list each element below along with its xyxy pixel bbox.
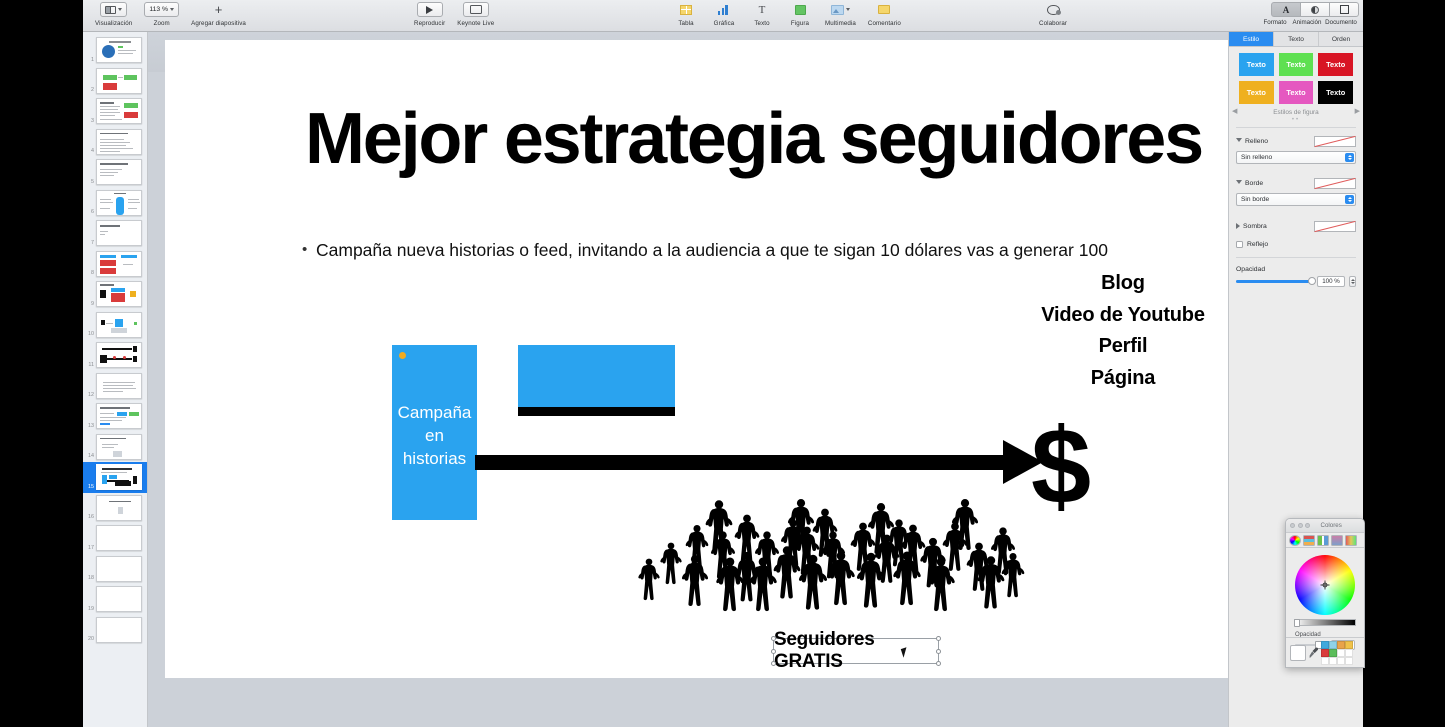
slide-navigator[interactable]: 1 2 3 bbox=[83, 32, 148, 727]
slide-thumbnail-8[interactable]: 8 bbox=[83, 249, 147, 280]
shape-style-green[interactable]: Texto bbox=[1279, 53, 1314, 76]
selected-text-box[interactable]: Seguidores GRATIS bbox=[773, 638, 939, 664]
slide-number: 18 bbox=[83, 575, 96, 581]
slide-thumbnail-6[interactable]: 6 bbox=[83, 188, 147, 219]
colors-window[interactable]: Colores Opacidad 100 % bbox=[1285, 518, 1365, 668]
slide-thumbnail-13[interactable]: 13 bbox=[83, 401, 147, 432]
zoom-label: Zoom bbox=[154, 20, 170, 27]
opacity-slider[interactable] bbox=[1236, 280, 1313, 283]
selected-text-label: Seguidores GRATIS bbox=[774, 629, 938, 673]
insert-chart-button[interactable]: Gráfica bbox=[705, 2, 743, 27]
palette-swatch[interactable] bbox=[1337, 649, 1345, 657]
divider bbox=[1236, 127, 1356, 128]
inspector-tabs: Estilo Texto Orden bbox=[1229, 32, 1363, 47]
minimize-icon[interactable] bbox=[1298, 523, 1303, 528]
slide-number: 9 bbox=[83, 301, 96, 307]
slide-thumbnail-preview bbox=[96, 403, 142, 429]
bullet-marker: • bbox=[302, 241, 307, 258]
comment-icon bbox=[878, 5, 890, 14]
slide-number: 19 bbox=[83, 606, 96, 612]
slide-thumbnail-preview bbox=[96, 434, 142, 460]
colors-window-footer bbox=[1286, 637, 1364, 667]
slide-thumbnail-9[interactable]: 9 bbox=[83, 279, 147, 310]
shape-styles-pagination[interactable]: •• bbox=[1239, 117, 1353, 123]
chart-icon bbox=[718, 5, 730, 15]
slide-thumbnail-preview bbox=[96, 129, 142, 155]
resize-handle-tl[interactable] bbox=[771, 636, 776, 641]
slide-thumbnail-preview bbox=[96, 342, 142, 368]
reflection-checkbox[interactable] bbox=[1236, 241, 1243, 248]
reflection-label: Reflejo bbox=[1247, 241, 1268, 248]
slide-thumbnail-preview bbox=[96, 495, 142, 521]
palette-swatch[interactable] bbox=[1321, 649, 1329, 657]
palette-swatch[interactable] bbox=[1337, 641, 1345, 649]
shadow-preview-swatch[interactable] bbox=[1314, 221, 1356, 232]
crowd-silhouette-image[interactable] bbox=[635, 455, 1035, 630]
table-icon bbox=[680, 5, 692, 15]
toolbar-inspector-labels: Formato Animación Documento bbox=[1259, 19, 1359, 26]
campaign-shape-label: Campaña en historias bbox=[392, 401, 477, 470]
campaign-line-1: Campaña bbox=[392, 401, 477, 424]
play-label: Reproducir bbox=[414, 20, 445, 27]
slide-thumbnail-1[interactable]: 1 bbox=[83, 35, 147, 66]
border-label: Borde bbox=[1245, 180, 1263, 187]
slide-thumbnail-18[interactable]: 18 bbox=[83, 554, 147, 585]
slide-number: 6 bbox=[83, 209, 96, 215]
palette-swatch[interactable] bbox=[1329, 649, 1337, 657]
slide-number: 3 bbox=[83, 118, 96, 124]
insert-text-label: Texto bbox=[754, 20, 769, 27]
slide-thumbnail-4[interactable]: 4 bbox=[83, 127, 147, 158]
campaign-line-2: en bbox=[392, 424, 477, 447]
keynote-live-label: Keynote Live bbox=[457, 20, 494, 27]
channel-item-youtube: Video de Youtube bbox=[993, 304, 1253, 327]
tab-texto[interactable]: Texto bbox=[1274, 32, 1319, 46]
shape-icon bbox=[795, 5, 806, 15]
fill-value: Sin relleno bbox=[1241, 154, 1272, 161]
colors-window-titlebar[interactable]: Colores bbox=[1286, 519, 1364, 533]
play-button[interactable]: Reproducir bbox=[408, 2, 451, 27]
slide-number: 4 bbox=[83, 148, 96, 154]
animate-icon bbox=[1311, 6, 1319, 14]
slide-thumbnail-preview bbox=[96, 525, 142, 551]
slide-thumbnail-preview bbox=[96, 556, 142, 582]
toolbar-insert-group: Tabla Gráfica T Texto Figura Multimedia … bbox=[667, 2, 907, 27]
current-color-swatch[interactable] bbox=[1290, 645, 1306, 661]
palette-swatch[interactable] bbox=[1329, 657, 1337, 665]
collaborate-icon bbox=[1047, 5, 1060, 15]
format-icon: A bbox=[1283, 5, 1290, 15]
border-select[interactable]: Sin borde bbox=[1236, 193, 1356, 206]
resize-handle-br[interactable] bbox=[936, 661, 941, 666]
toolbar-collaborate-group: Colaborar bbox=[1033, 2, 1073, 27]
slide-thumbnail-preview bbox=[96, 68, 142, 94]
eyedropper-icon[interactable] bbox=[1309, 646, 1318, 660]
slide-thumbnail-7[interactable]: 7 bbox=[83, 218, 147, 249]
color-wheel-tab-icon[interactable] bbox=[1289, 535, 1301, 546]
slide-number: 8 bbox=[83, 270, 96, 276]
insert-comment-button[interactable]: Comentario bbox=[862, 2, 907, 27]
slide-thumbnail-preview bbox=[96, 312, 142, 338]
slide-thumbnail-5[interactable]: 5 bbox=[83, 157, 147, 188]
chevron-down-icon bbox=[846, 8, 850, 11]
shape-style-red[interactable]: Texto bbox=[1318, 53, 1353, 76]
toolbar-left-group: Visualización 113 % Zoom + Agregar diapo… bbox=[89, 2, 252, 27]
slide-thumbnail-preview bbox=[96, 464, 142, 490]
slide-number: 14 bbox=[83, 453, 96, 459]
play-icon bbox=[426, 6, 433, 14]
zoom-control[interactable]: 113 % Zoom bbox=[138, 2, 185, 27]
fill-stepper-icon[interactable] bbox=[1345, 153, 1354, 162]
close-icon[interactable] bbox=[1290, 523, 1295, 528]
slide-thumbnail-10[interactable]: 10 bbox=[83, 310, 147, 341]
colors-window-title: Colores bbox=[1321, 522, 1342, 529]
slide-thumbnail-preview bbox=[96, 220, 142, 246]
slide-number: 10 bbox=[83, 331, 96, 337]
disclosure-triangle-icon[interactable] bbox=[1236, 180, 1242, 187]
slide-thumbnail-preview bbox=[96, 617, 142, 643]
slide-number: 20 bbox=[83, 636, 96, 642]
slide-thumbnail-14[interactable]: 14 bbox=[83, 432, 147, 463]
disclosure-triangle-icon[interactable] bbox=[1236, 138, 1242, 145]
slide-number: 12 bbox=[83, 392, 96, 398]
shape-styles-caption: Estilos de figura bbox=[1239, 109, 1353, 116]
insert-shape-button[interactable]: Figura bbox=[781, 2, 819, 27]
channel-item-pagina: Página bbox=[993, 367, 1253, 390]
collaborate-button[interactable]: Colaborar bbox=[1033, 2, 1073, 27]
slide-thumbnail-16[interactable]: 16 bbox=[83, 493, 147, 524]
tab-orden[interactable]: Orden bbox=[1319, 32, 1363, 46]
animate-label: Animación bbox=[1291, 19, 1323, 26]
palette-swatch[interactable] bbox=[1345, 657, 1353, 665]
resize-handle-bl[interactable] bbox=[771, 661, 776, 666]
keynote-window: Visualización 113 % Zoom + Agregar diapo… bbox=[83, 0, 1363, 727]
shape-style-black[interactable]: Texto bbox=[1318, 81, 1353, 104]
slide-thumbnail-preview bbox=[96, 190, 142, 216]
color-wheel-picker-icon[interactable] bbox=[1321, 581, 1330, 590]
view-options-icon bbox=[105, 6, 116, 14]
insert-media-button[interactable]: Multimedia bbox=[819, 2, 862, 27]
slide-thumbnail-20[interactable]: 20 bbox=[83, 615, 147, 646]
dollar-sign[interactable]: $ bbox=[1031, 412, 1091, 520]
resize-handle-l[interactable] bbox=[771, 649, 776, 654]
brightness-slider[interactable] bbox=[1294, 619, 1356, 626]
color-palette-swatches[interactable] bbox=[1321, 641, 1360, 665]
shadow-section: Sombra Reflejo Opacidad 100 % bbox=[1229, 220, 1363, 287]
zoom-value: 113 % bbox=[149, 6, 168, 13]
campaign-line-3: historias bbox=[392, 447, 477, 470]
zoom-icon[interactable] bbox=[1305, 523, 1310, 528]
document-button[interactable] bbox=[1329, 2, 1359, 17]
styles-prev-arrow-icon[interactable]: ◀ bbox=[1232, 107, 1237, 115]
palette-swatch[interactable] bbox=[1321, 657, 1329, 665]
fill-preview-swatch[interactable] bbox=[1314, 136, 1356, 147]
styles-next-arrow-icon[interactable]: ▶ bbox=[1355, 107, 1360, 115]
slide-thumbnail-preview bbox=[96, 159, 142, 185]
opacity-value[interactable]: 100 % bbox=[1317, 276, 1345, 287]
slide-thumbnail-19[interactable]: 19 bbox=[83, 584, 147, 615]
slide-thumbnail-preview bbox=[96, 98, 142, 124]
toolbar-play-group: Reproducir Keynote Live bbox=[408, 2, 500, 27]
brightness-knob[interactable] bbox=[1294, 619, 1300, 627]
keynote-live-button[interactable]: Keynote Live bbox=[451, 2, 500, 27]
keynote-live-icon bbox=[470, 5, 482, 14]
channel-item-blog: Blog bbox=[993, 272, 1253, 295]
channels-list[interactable]: Blog Video de Youtube Perfil Página bbox=[993, 272, 1253, 398]
animate-button[interactable] bbox=[1300, 2, 1330, 17]
palette-swatch[interactable] bbox=[1345, 649, 1353, 657]
shape-style-yellow[interactable]: Texto bbox=[1239, 81, 1274, 104]
palette-swatch[interactable] bbox=[1321, 641, 1329, 649]
palette-swatch[interactable] bbox=[1337, 657, 1345, 665]
yellow-dot-icon bbox=[399, 352, 406, 359]
insert-table-label: Tabla bbox=[678, 20, 693, 27]
format-label: Formato bbox=[1259, 19, 1291, 26]
format-button[interactable]: A bbox=[1271, 2, 1301, 17]
slide-thumbnail-12[interactable]: 12 bbox=[83, 371, 147, 402]
toolbar-inspector-toggle-group: A bbox=[1271, 2, 1359, 17]
media-icon bbox=[831, 5, 844, 15]
reflection-row[interactable]: Reflejo bbox=[1236, 241, 1356, 248]
color-palettes-tab-icon[interactable] bbox=[1317, 535, 1329, 546]
slide-thumbnail-preview bbox=[96, 586, 142, 612]
collaborate-label: Colaborar bbox=[1039, 20, 1067, 27]
divider bbox=[1236, 257, 1356, 258]
slide-number: 11 bbox=[83, 362, 96, 368]
fill-label: Relleno bbox=[1245, 138, 1268, 145]
add-slide-button[interactable]: + Agregar diapositiva bbox=[185, 2, 252, 27]
shape-style-blue[interactable]: Texto bbox=[1239, 53, 1274, 76]
slide-number: 16 bbox=[83, 514, 96, 520]
opacity-stepper-icon[interactable] bbox=[1349, 276, 1356, 287]
slide-number: 13 bbox=[83, 423, 96, 429]
slide-title[interactable]: Mejor estrategia seguidores bbox=[305, 98, 1245, 180]
slide-number: 1 bbox=[83, 57, 96, 63]
channel-item-perfil: Perfil bbox=[993, 335, 1253, 358]
palette-swatch[interactable] bbox=[1329, 641, 1337, 649]
shape-styles-section: ◀ ▶ Texto Texto Texto Texto Texto Texto … bbox=[1229, 47, 1363, 123]
image-palettes-tab-icon[interactable] bbox=[1331, 535, 1343, 546]
add-slide-label: Agregar diapositiva bbox=[191, 20, 246, 27]
border-value: Sin borde bbox=[1241, 196, 1269, 203]
tab-estilo[interactable]: Estilo bbox=[1229, 32, 1274, 46]
insert-text-button[interactable]: T Texto bbox=[743, 2, 781, 27]
chevron-down-icon bbox=[170, 8, 174, 11]
slide-thumbnail-17[interactable]: 17 bbox=[83, 523, 147, 554]
view-options-button[interactable]: Visualización bbox=[89, 2, 138, 27]
document-label: Documento bbox=[1323, 19, 1359, 26]
resize-handle-r[interactable] bbox=[936, 649, 941, 654]
document-icon bbox=[1340, 5, 1349, 14]
slide-thumbnail-3[interactable]: 3 bbox=[83, 96, 147, 127]
palette-swatch[interactable] bbox=[1345, 641, 1353, 649]
slide-bullet[interactable]: • Campaña nueva historias o feed, invita… bbox=[302, 240, 1108, 261]
shadow-label: Sombra bbox=[1243, 223, 1267, 230]
campaign-shape[interactable]: Campaña en historias bbox=[392, 345, 477, 520]
insert-chart-label: Gráfica bbox=[714, 20, 735, 27]
text-icon: T bbox=[759, 5, 766, 15]
slide-thumbnail-preview bbox=[96, 373, 142, 399]
insert-comment-label: Comentario bbox=[868, 20, 901, 27]
border-section: Borde Sin borde bbox=[1229, 177, 1363, 206]
slide-canvas[interactable]: Mejor estrategia seguidores • Campaña nu… bbox=[165, 40, 1244, 678]
insert-shape-label: Figura bbox=[791, 20, 809, 27]
slide-thumbnail-preview bbox=[96, 281, 142, 307]
view-options-label: Visualización bbox=[95, 20, 132, 27]
insert-table-button[interactable]: Tabla bbox=[667, 2, 705, 27]
bullet-text: Campaña nueva historias o feed, invitand… bbox=[316, 240, 1108, 261]
black-bar-under-shape bbox=[518, 407, 675, 416]
border-preview-swatch[interactable] bbox=[1314, 178, 1356, 189]
colors-mode-tabs bbox=[1286, 533, 1364, 548]
slide-thumbnail-2[interactable]: 2 bbox=[83, 66, 147, 97]
slide-thumbnail-15[interactable]: 15 bbox=[83, 462, 147, 493]
fill-select[interactable]: Sin relleno bbox=[1236, 151, 1356, 164]
toolbar: Visualización 113 % Zoom + Agregar diapo… bbox=[83, 0, 1363, 32]
slide-thumbnail-11[interactable]: 11 bbox=[83, 340, 147, 371]
disclosure-triangle-icon[interactable] bbox=[1236, 223, 1240, 229]
border-stepper-icon[interactable] bbox=[1345, 195, 1354, 204]
plus-icon: + bbox=[215, 4, 223, 16]
plain-blue-shape[interactable] bbox=[518, 345, 675, 407]
slide-number: 15 bbox=[83, 484, 96, 490]
chevron-down-icon bbox=[118, 8, 122, 11]
fill-section: Relleno Sin relleno bbox=[1229, 135, 1363, 164]
slide-thumbnail-preview bbox=[96, 251, 142, 277]
resize-handle-tr[interactable] bbox=[936, 636, 941, 641]
crayons-tab-icon[interactable] bbox=[1345, 535, 1357, 546]
opacity-label: Opacidad bbox=[1236, 266, 1356, 273]
slide-number: 17 bbox=[83, 545, 96, 551]
insert-media-label: Multimedia bbox=[825, 20, 856, 27]
color-sliders-tab-icon[interactable] bbox=[1303, 535, 1315, 546]
slide-number: 5 bbox=[83, 179, 96, 185]
slide-thumbnail-preview bbox=[96, 37, 142, 63]
slide-number: 7 bbox=[83, 240, 96, 246]
shape-style-pink[interactable]: Texto bbox=[1279, 81, 1314, 104]
slide-number: 2 bbox=[83, 87, 96, 93]
